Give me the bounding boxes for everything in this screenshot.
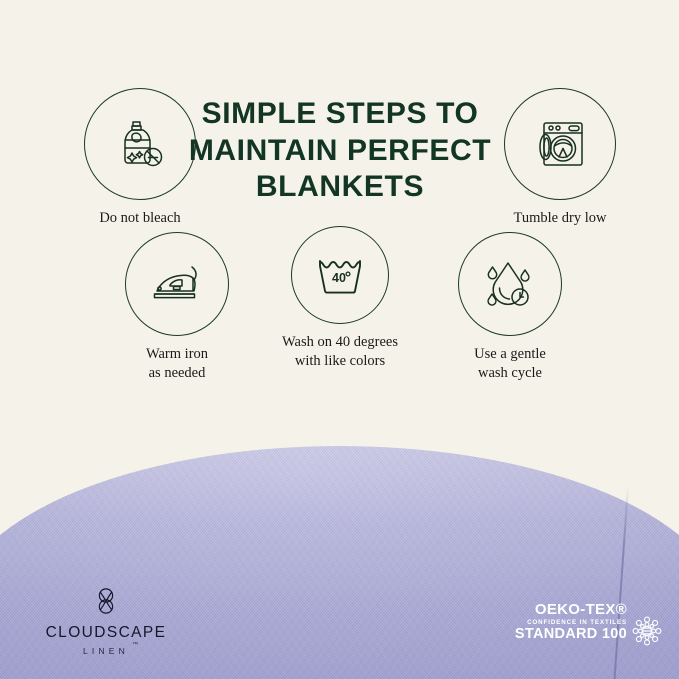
- badge-ring: [125, 232, 229, 336]
- care-badge-caption: Wash on 40 degrees with like colors: [258, 333, 422, 370]
- oeko-tex-certification: OEKO-TEX® CONFIDENCE IN TEXTILES STANDAR…: [497, 602, 665, 654]
- care-badge-warm-iron: Warm iron as needed: [97, 232, 257, 382]
- care-instructions-panel: SIMPLE STEPS TO MAINTAIN PERFECT BLANKET…: [0, 0, 679, 420]
- care-badge-wash-40: 40 Wash on 40 degrees with like colors: [258, 226, 422, 370]
- care-badge-caption: Warm iron as needed: [97, 345, 257, 382]
- product-infographic-page: SIMPLE STEPS TO MAINTAIN PERFECT BLANKET…: [0, 0, 679, 679]
- care-badge-caption: Tumble dry low: [480, 209, 640, 228]
- oeko-tex-line1: OEKO-TEX®: [497, 602, 627, 618]
- brand-subtitle: LINEN: [83, 646, 129, 656]
- badge-ring: [458, 232, 562, 336]
- care-badge-caption: Do not bleach: [60, 209, 220, 228]
- care-badge-caption: Use a gentle wash cycle: [430, 345, 590, 382]
- care-badge-tumble-dry-low: Tumble dry low: [480, 88, 640, 228]
- brand-subtitle-wrap: LINEN ™: [83, 646, 129, 656]
- trademark-symbol: ™: [132, 642, 138, 648]
- badge-ring: [504, 88, 616, 200]
- badge-ring: 40: [291, 226, 389, 324]
- oeko-tex-text-block: OEKO-TEX® CONFIDENCE IN TEXTILES STANDAR…: [497, 602, 627, 643]
- oeko-tex-rosette-icon: [629, 613, 665, 654]
- badge-ring: [84, 88, 196, 200]
- care-badge-gentle-cycle: Use a gentle wash cycle: [430, 232, 590, 382]
- brand-lockup: CLOUDSCAPE LINEN ™: [26, 586, 186, 659]
- page-title: SIMPLE STEPS TO MAINTAIN PERFECT BLANKET…: [178, 96, 502, 206]
- svg-text:40: 40: [332, 271, 346, 285]
- oeko-tex-line3: STANDARD 100: [497, 627, 627, 643]
- care-badge-do-not-bleach: Do not bleach: [60, 88, 220, 228]
- infinity-loop-logo-mark: [26, 586, 186, 621]
- brand-name: CLOUDSCAPE: [26, 624, 186, 641]
